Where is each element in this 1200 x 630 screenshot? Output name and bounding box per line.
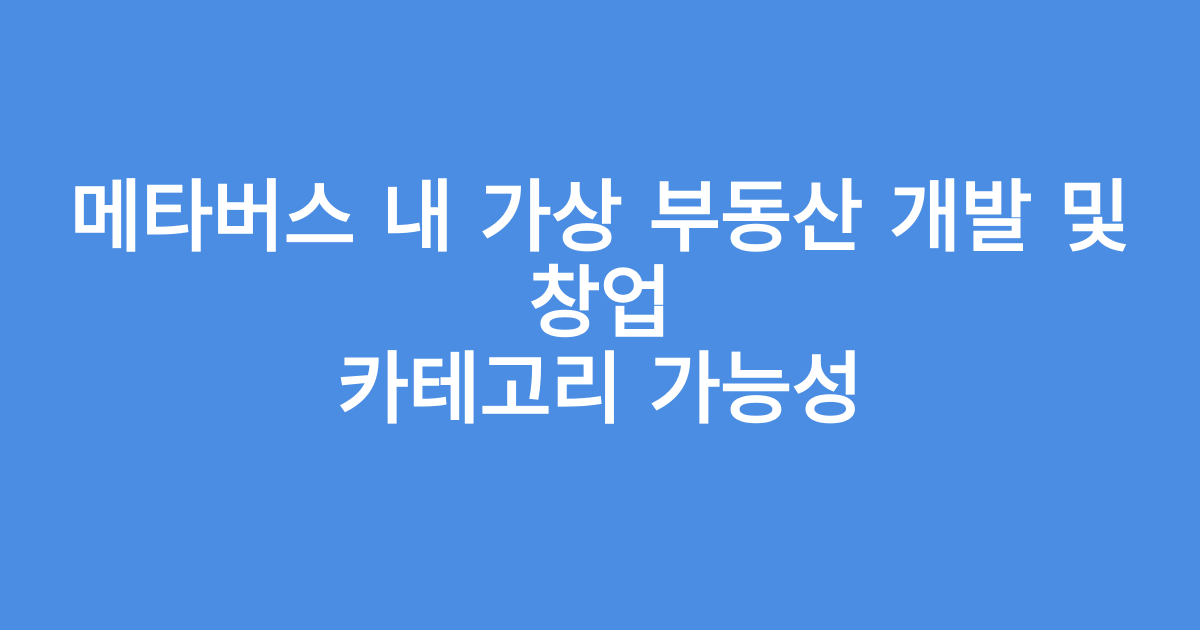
page-title: 메타버스 내 가상 부동산 개발 및 창업 카테고리 가능성 xyxy=(48,175,1152,433)
headline-block: 메타버스 내 가상 부동산 개발 및 창업 카테고리 가능성 xyxy=(48,175,1152,433)
og-image-card: 메타버스 내 가상 부동산 개발 및 창업 카테고리 가능성 xyxy=(0,0,1200,630)
